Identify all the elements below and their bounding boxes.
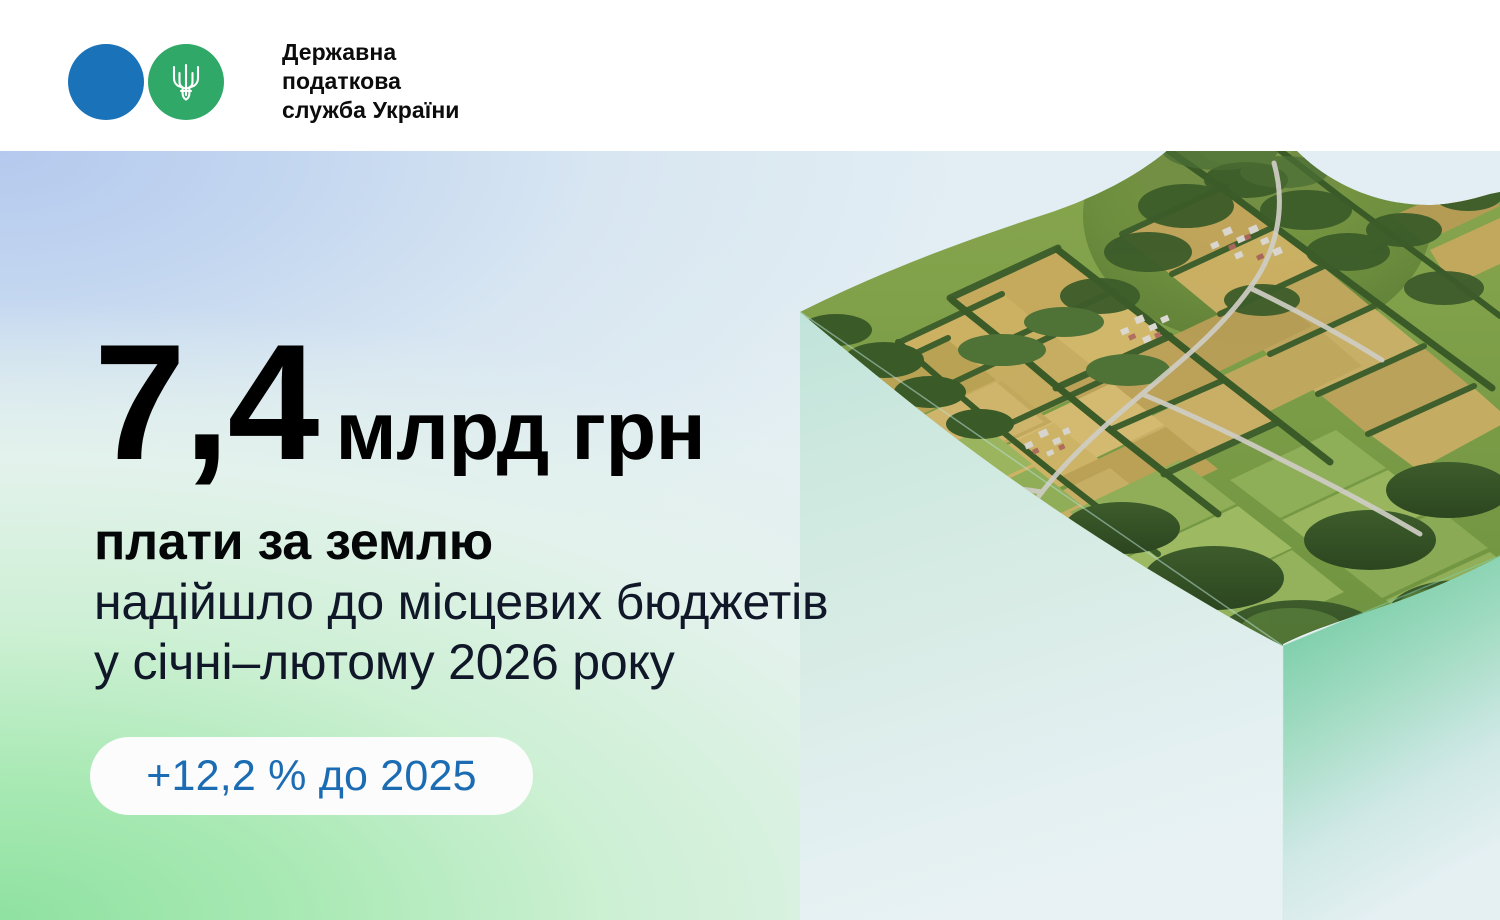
- org-name-line-1: Державна: [282, 38, 460, 67]
- org-name-line-3: служба України: [282, 96, 460, 125]
- description-line-2: у січні–лютому 2026 року: [94, 633, 675, 692]
- logo-marks: [68, 44, 200, 120]
- subject-label: плати за землю: [94, 513, 493, 571]
- growth-badge: +12,2 % до 2025: [90, 737, 533, 815]
- growth-badge-label: +12,2 % до 2025: [146, 752, 477, 801]
- header-bar: Державна податкова служба України: [0, 0, 1500, 151]
- amount-value: 7,4: [94, 327, 317, 479]
- organization-name: Державна податкова служба України: [282, 38, 460, 126]
- green-circle-icon: [148, 44, 224, 120]
- description-line-1: надійшло до місцевих бюджетів: [94, 573, 828, 632]
- organization-logo: Державна податкова служба України: [68, 38, 460, 126]
- ukraine-trident-icon: [168, 61, 204, 103]
- blue-circle-icon: [68, 44, 144, 120]
- headline: 7,4 млрд грн: [94, 327, 705, 479]
- org-name-line-2: податкова: [282, 67, 460, 96]
- amount-unit: млрд грн: [335, 389, 705, 472]
- infographic-poster: Державна податкова служба України 7,4 мл…: [0, 0, 1500, 920]
